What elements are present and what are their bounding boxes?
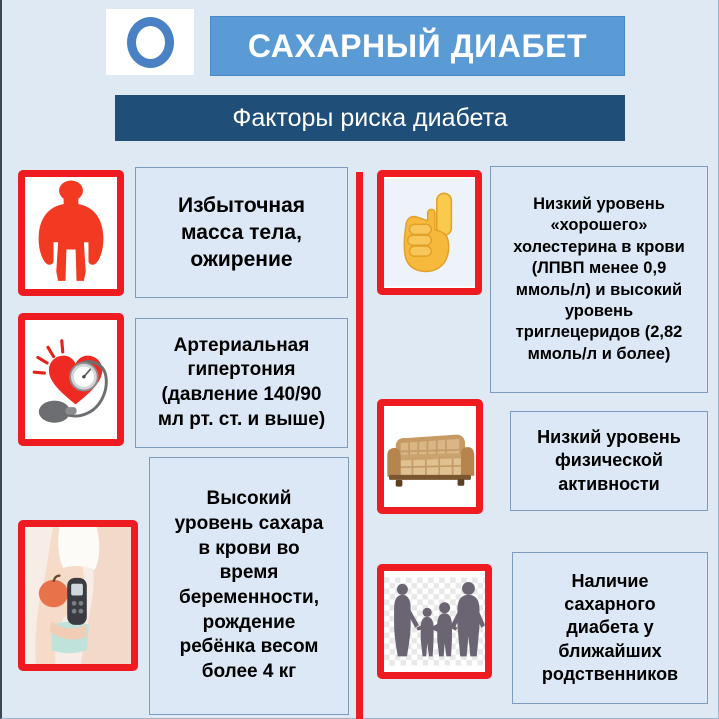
risk-factor-label: Артериальная гипертония (давление 140/90… <box>158 334 325 433</box>
poster-subtitle-bar: Факторы риска диабета <box>115 95 625 141</box>
risk-factor-label: Избыточная масса тела, ожирение <box>178 192 305 274</box>
logo-container <box>106 9 194 75</box>
poster-title-bar: САХАРНЫЙ ДИАБЕТ <box>210 16 625 76</box>
risk-factor-label: Высокий уровень сахара в крови во время … <box>175 487 324 685</box>
risk-factor-card-low-activity: Низкий уровень физической активности <box>510 411 708 511</box>
risk-factor-card-family-history: Наличие сахарного диабета у ближайших ро… <box>512 552 708 704</box>
diabetes-risk-factors-poster: САХАРНЫЙ ДИАБЕТ Факторы риска диабета Из… <box>0 0 719 719</box>
family-silhouette-icon <box>377 564 492 679</box>
obese-person-silhouette-icon <box>18 170 124 296</box>
blue-circle-diabetes-symbol-icon <box>127 17 174 68</box>
page-subtitle: Факторы риска диабета <box>232 104 507 133</box>
sofa-couch-icon <box>377 399 483 514</box>
pointing-up-hand-icon <box>377 170 482 295</box>
blood-pressure-monitor-heart-icon <box>18 313 124 446</box>
risk-factor-card-gestational-diabetes: Высокий уровень сахара в крови во время … <box>149 457 349 715</box>
risk-factor-card-hypertension: Артериальная гипертония (давление 140/90… <box>135 318 348 448</box>
page-title: САХАРНЫЙ ДИАБЕТ <box>248 28 587 65</box>
risk-factor-label: Наличие сахарного диабета у ближайших ро… <box>542 570 678 687</box>
risk-factor-label: Низкий уровень физической активности <box>537 426 681 496</box>
risk-factor-card-obesity: Избыточная масса тела, ожирение <box>135 167 348 298</box>
column-divider <box>356 172 363 719</box>
pregnant-woman-glucometer-icon <box>18 520 138 671</box>
risk-factor-card-cholesterol: Низкий уровень «хорошего» холестерина в … <box>490 166 708 393</box>
risk-factor-label: Низкий уровень «хорошего» холестерина в … <box>513 194 684 366</box>
